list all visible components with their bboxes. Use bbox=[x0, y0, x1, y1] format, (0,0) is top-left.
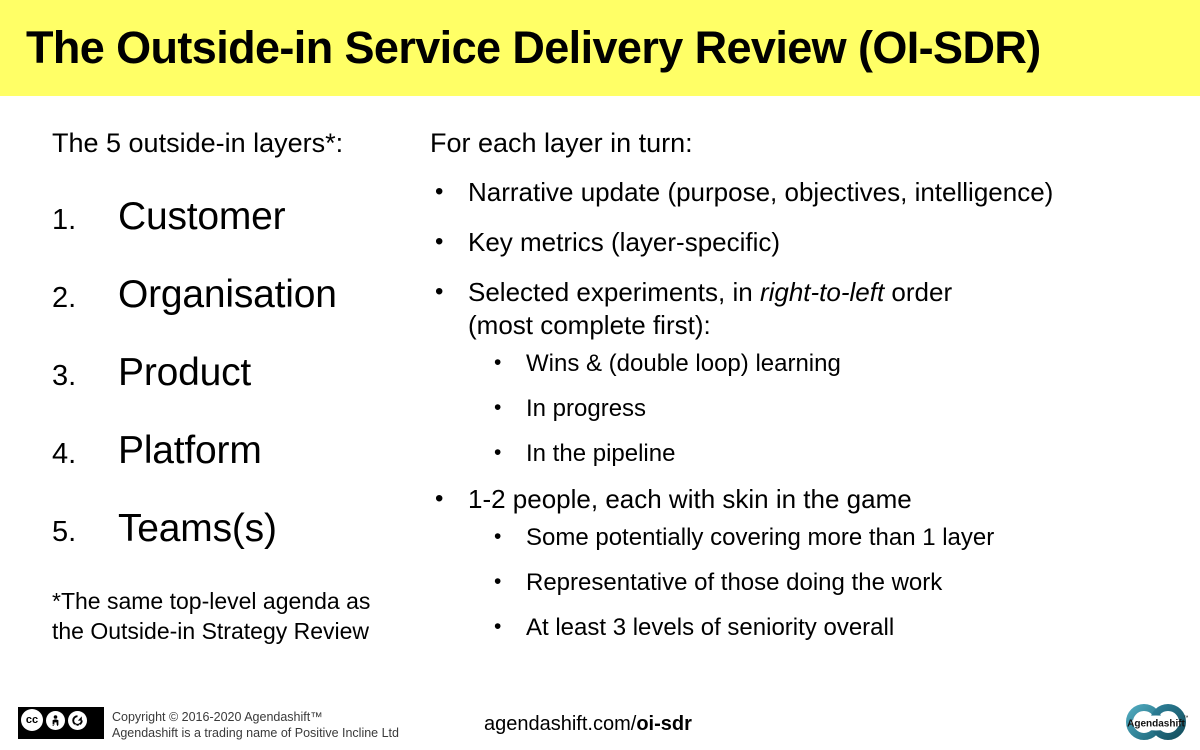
sub-list-wrapper: Some potentially covering more than 1 la… bbox=[430, 522, 1190, 643]
list-item: 4. Platform bbox=[52, 416, 422, 486]
list-item: 5. Teams(s) bbox=[52, 494, 422, 564]
agenda-bullet-list: Narrative update (purpose, objectives, i… bbox=[430, 176, 1190, 643]
copyright-line-1: Copyright © 2016-2020 Agendashift™ bbox=[112, 709, 399, 725]
list-item: In the pipeline bbox=[490, 438, 1190, 469]
url-slug: oi-sdr bbox=[636, 713, 692, 735]
experiments-text-post: order bbox=[884, 277, 952, 307]
list-item: At least 3 levels of seniority overall bbox=[490, 612, 1190, 643]
logo-wordmark: Agendashift bbox=[1127, 719, 1185, 730]
list-item-label: Customer bbox=[118, 182, 285, 252]
list-item-number: 2. bbox=[52, 263, 118, 333]
left-column: The 5 outside-in layers*: 1. Customer 2.… bbox=[52, 126, 422, 646]
cc-by-label: BY bbox=[51, 725, 60, 731]
cc-by-group: BY bbox=[46, 711, 65, 730]
list-item: Selected experiments, in right-to-left o… bbox=[430, 276, 1190, 342]
title-banner: The Outside-in Service Delivery Review (… bbox=[0, 0, 1200, 96]
list-item-label: Teams(s) bbox=[118, 494, 277, 564]
cc-logo-icon: cc bbox=[21, 709, 43, 731]
list-item: 2. Organisation bbox=[52, 260, 422, 330]
experiments-text-pre: Selected experiments, in bbox=[468, 277, 760, 307]
right-column: For each layer in turn: Narrative update… bbox=[430, 126, 1190, 657]
people-sub-list: Some potentially covering more than 1 la… bbox=[490, 522, 1190, 643]
outside-in-layers-list: 1. Customer 2. Organisation 3. Product 4… bbox=[52, 182, 422, 564]
copyright-line-2: Agendashift is a trading name of Positiv… bbox=[112, 725, 399, 741]
sub-list-wrapper: Wins & (double loop) learning In progres… bbox=[430, 348, 1190, 469]
list-item: 1. Customer bbox=[52, 182, 422, 252]
list-item: Key metrics (layer-specific) bbox=[430, 226, 1190, 259]
svg-text:™: ™ bbox=[1184, 715, 1189, 721]
experiments-sub-list: Wins & (double loop) learning In progres… bbox=[490, 348, 1190, 469]
right-column-heading: For each layer in turn: bbox=[430, 126, 1190, 160]
list-item: Wins & (double loop) learning bbox=[490, 348, 1190, 379]
list-item: Some potentially covering more than 1 la… bbox=[490, 522, 1190, 553]
list-item: Representative of those doing the work bbox=[490, 567, 1190, 598]
url-prefix: agendashift.com/ bbox=[484, 713, 636, 735]
list-item: In progress bbox=[490, 393, 1190, 424]
copyright-notice: Copyright © 2016-2020 Agendashift™ Agend… bbox=[112, 709, 399, 741]
list-item: 1-2 people, each with skin in the game bbox=[430, 483, 1190, 516]
left-column-heading: The 5 outside-in layers*: bbox=[52, 126, 422, 160]
reference-url[interactable]: agendashift.com/oi-sdr bbox=[484, 711, 692, 737]
list-item-number: 3. bbox=[52, 341, 118, 411]
page-title: The Outside-in Service Delivery Review (… bbox=[26, 14, 1041, 82]
cc-sa-group: SA bbox=[68, 711, 87, 730]
list-item-number: 1. bbox=[52, 185, 118, 255]
creative-commons-badge-icon[interactable]: cc BY SA bbox=[18, 707, 104, 739]
experiments-text-line2: (most complete first): bbox=[468, 310, 711, 340]
left-column-footnote: *The same top-level agenda as the Outsid… bbox=[52, 586, 392, 646]
cc-badge-row: cc BY SA bbox=[21, 709, 87, 731]
experiments-text-emphasis: right-to-left bbox=[760, 277, 884, 307]
list-item: 3. Product bbox=[52, 338, 422, 408]
agendashift-logo-icon: Agendashift ™ bbox=[1120, 700, 1192, 744]
list-item-label: Product bbox=[118, 338, 251, 408]
list-item-number: 5. bbox=[52, 497, 118, 567]
list-item-label: Platform bbox=[118, 416, 262, 486]
list-item-label: Organisation bbox=[118, 260, 337, 330]
slide-root: The Outside-in Service Delivery Review (… bbox=[0, 0, 1200, 750]
cc-sa-label: SA bbox=[73, 725, 82, 731]
list-item-number: 4. bbox=[52, 419, 118, 489]
list-item: Narrative update (purpose, objectives, i… bbox=[430, 176, 1190, 209]
